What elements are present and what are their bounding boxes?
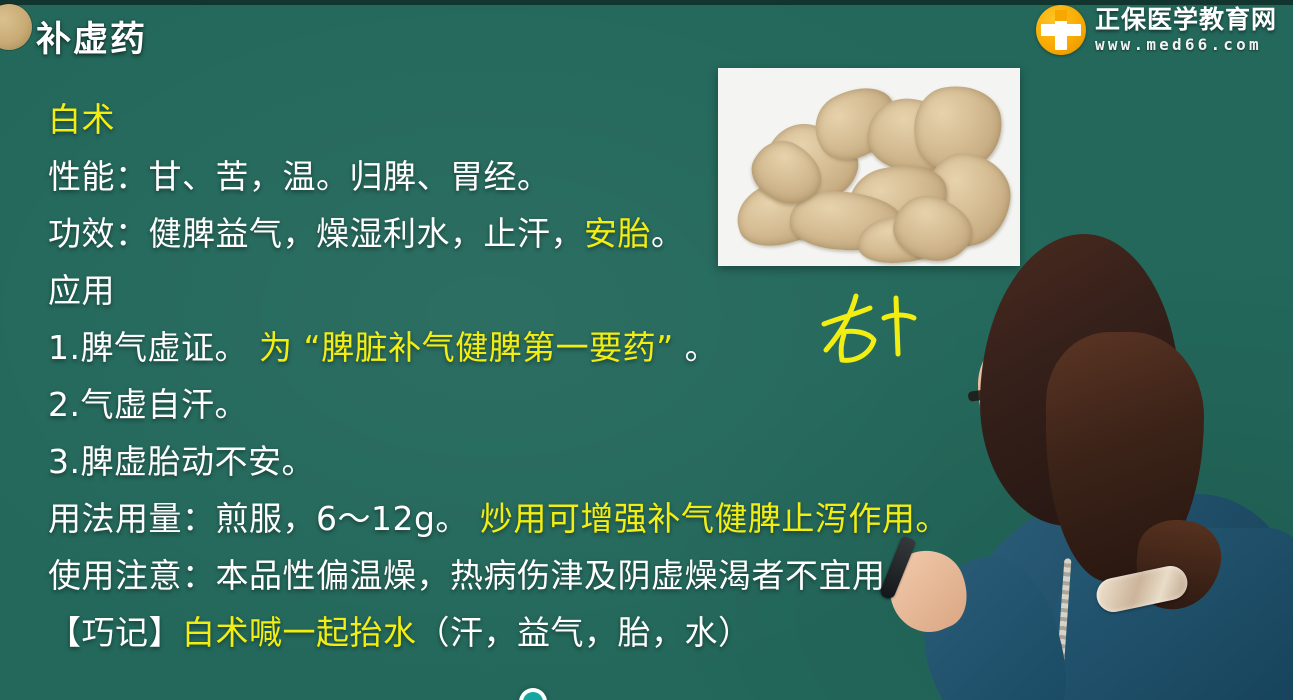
page-title: 补虚药 <box>36 11 147 62</box>
slide-text-segment: 应用 <box>48 271 115 310</box>
slide-body-text: 白术 性能：甘、苦，温。归脾、胃经。 功效：健脾益气，燥湿利水，止汗，安胎。 应… <box>48 96 1008 666</box>
slide-text-segment: 2.气虚自汗。 <box>48 385 248 424</box>
slide-text-segment: 用法用量：煎服，6～12g。 <box>48 499 469 538</box>
slide-text-segment: 为 “脾脏补气健脾第一要药” <box>248 328 674 367</box>
brand-url: www.med66.com <box>1095 37 1277 53</box>
slide-line: 功效：健脾益气，燥湿利水，止汗，安胎。 <box>48 210 1008 267</box>
slide-line: 3.脾虚胎动不安。 <box>48 438 1008 495</box>
slide-text-segment: 。 <box>674 328 719 367</box>
video-lecture-frame: 补虚药 正保医学教育网 www.med66.com <box>0 0 1293 700</box>
slide-text-segment: 安胎 <box>584 214 651 253</box>
medical-cross-icon <box>1036 5 1086 55</box>
slide-text-segment: 白术喊一起抬水 <box>182 613 417 652</box>
slide-text-segment: 白术 <box>48 100 115 139</box>
brand-name: 正保医学教育网 <box>1095 7 1277 32</box>
play-button-icon[interactable] <box>519 688 547 700</box>
slide-text-segment: 使用注意：本品性偏温燥，热病伤津及阴虚燥渴者不宜用。 <box>48 556 919 595</box>
slide-line: 使用注意：本品性偏温燥，热病伤津及阴虚燥渴者不宜用。 <box>48 552 1008 609</box>
slide-text-segment: 1.脾气虚证。 <box>48 328 248 367</box>
slide-line: 2.气虚自汗。 <box>48 381 1008 438</box>
avatar <box>0 4 32 50</box>
slide-line: 【巧记】白术喊一起抬水（汗，益气，胎，水） <box>48 609 1008 666</box>
slide-line: 用法用量：煎服，6～12g。 炒用可增强补气健脾止泻作用。 <box>48 495 1008 552</box>
brand-logo: 正保医学教育网 www.med66.com <box>1036 5 1277 55</box>
slide-text-segment: 功效：健脾益气，燥湿利水，止汗， <box>48 214 584 253</box>
slide-text-segment: 3.脾虚胎动不安。 <box>48 442 315 481</box>
slide-line: 性能：甘、苦，温。归脾、胃经。 <box>48 153 1008 210</box>
slide-line: 白术 <box>48 96 1008 153</box>
slide-text-segment: 性能：甘、苦，温。归脾、胃经。 <box>48 157 551 196</box>
slide-header: 补虚药 正保医学教育网 www.med66.com <box>0 0 1293 62</box>
slide-text-segment: 。 <box>651 214 685 253</box>
presenter-instructor <box>868 228 1293 700</box>
slide-line: 1.脾气虚证。 为 “脾脏补气健脾第一要药” 。 <box>48 324 1008 381</box>
slide-line: 应用 <box>48 267 1008 324</box>
slide-text-segment: （汗，益气，胎，水） <box>417 613 752 652</box>
slide-text-segment: 【巧记】 <box>48 613 182 652</box>
